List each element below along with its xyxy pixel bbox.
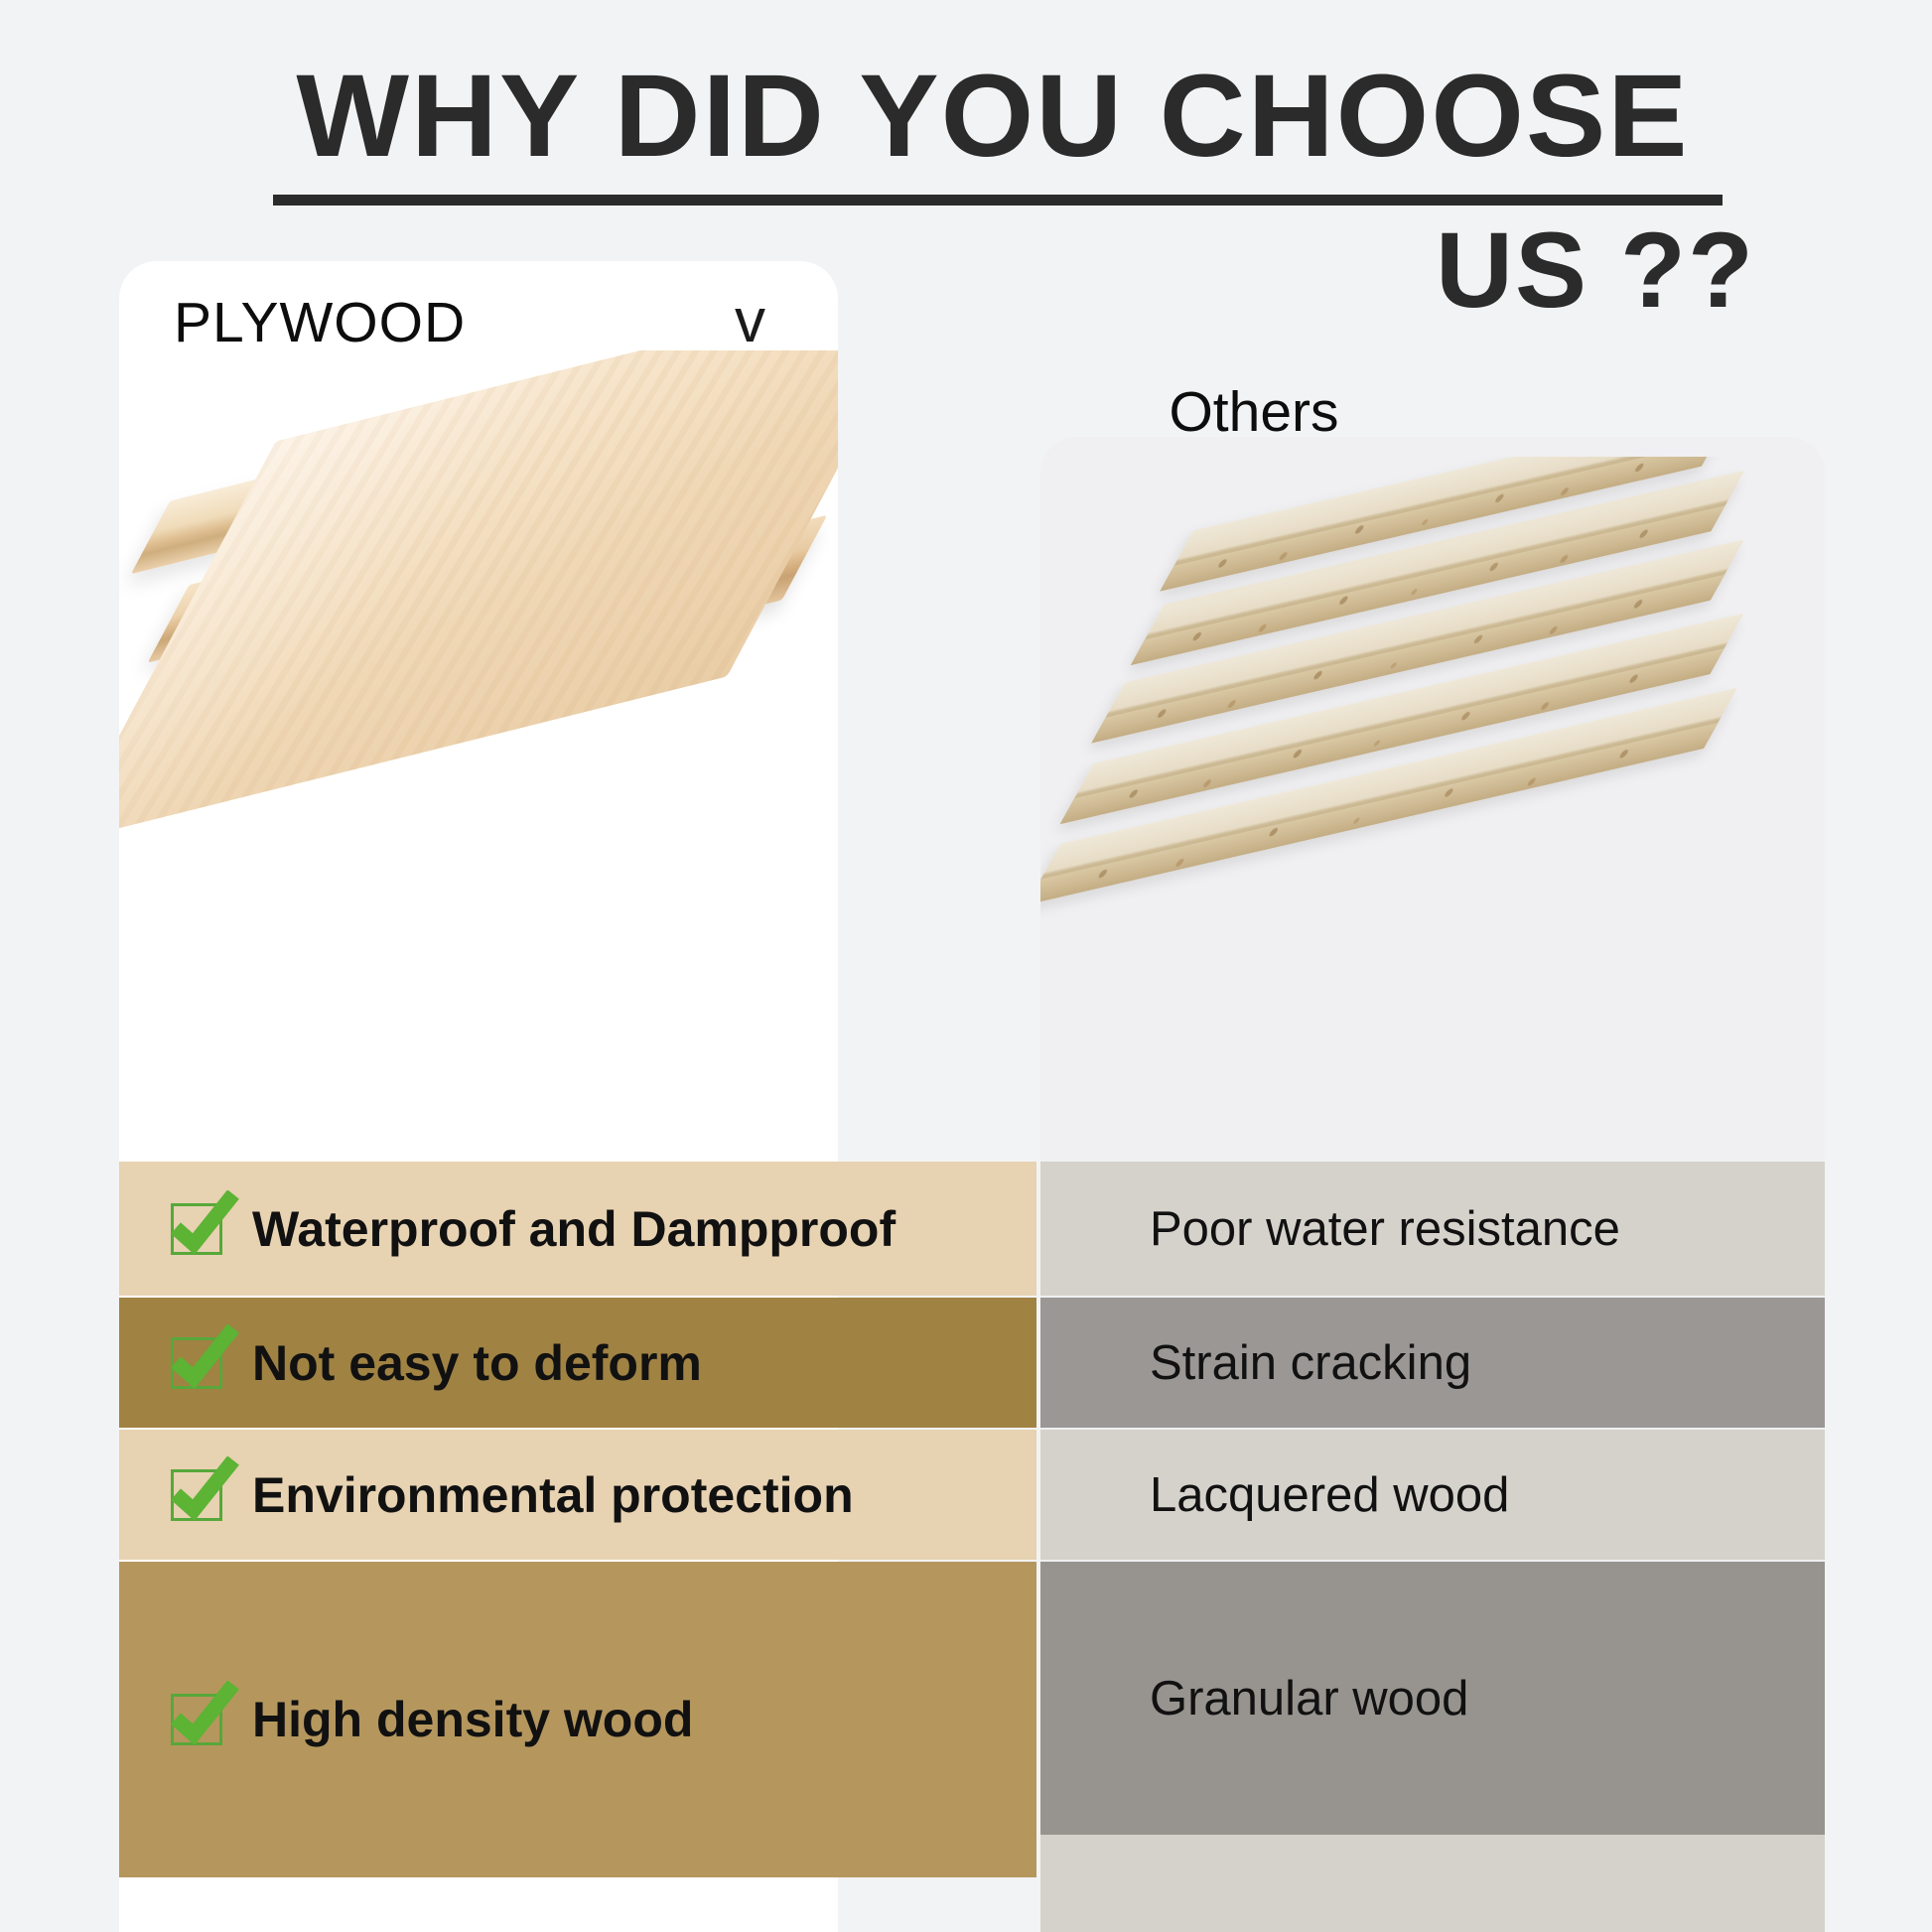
comparison-table: Waterproof and Dampproof Poor water resi… — [0, 0, 1932, 1932]
drawback-label: Strain cracking — [1150, 1335, 1471, 1391]
table-row: Lacquered wood — [1040, 1430, 1825, 1560]
feature-label: Not easy to deform — [252, 1334, 702, 1392]
feature-label: Waterproof and Dampproof — [252, 1200, 896, 1258]
table-row: High density wood — [119, 1562, 1036, 1877]
poster-root: WHY DID YOU CHOOSE US ?? PLYWOOD v Other… — [0, 0, 1932, 1932]
others-bottom-strip — [1040, 1835, 1825, 1932]
feature-label: Environmental protection — [252, 1466, 854, 1524]
check-icon — [171, 1469, 222, 1521]
check-icon-glyph — [168, 1324, 241, 1388]
table-row: Environmental protection — [119, 1430, 1036, 1560]
check-icon-glyph — [168, 1190, 241, 1254]
table-row: Strain cracking — [1040, 1298, 1825, 1428]
feature-label: High density wood — [252, 1691, 693, 1748]
plywood-bottom-strip — [119, 1877, 838, 1932]
drawback-label: Lacquered wood — [1150, 1467, 1509, 1523]
table-row: Granular wood — [1040, 1562, 1825, 1835]
check-icon — [171, 1203, 222, 1255]
table-row: Waterproof and Dampproof — [119, 1162, 1036, 1296]
check-icon-glyph — [168, 1456, 241, 1520]
check-icon — [171, 1337, 222, 1389]
table-row: Not easy to deform — [119, 1298, 1036, 1428]
drawback-label: Poor water resistance — [1150, 1201, 1620, 1257]
drawback-label: Granular wood — [1150, 1671, 1468, 1726]
table-row: Poor water resistance — [1040, 1162, 1825, 1296]
check-icon — [171, 1694, 222, 1745]
check-icon-glyph — [168, 1681, 241, 1744]
